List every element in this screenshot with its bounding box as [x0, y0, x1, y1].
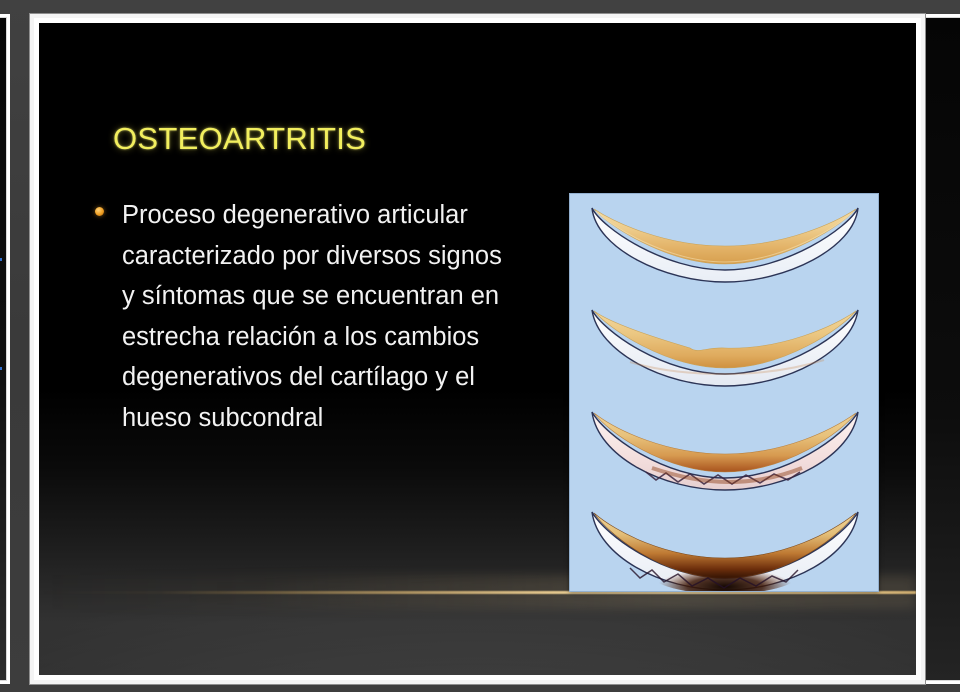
current-slide-frame[interactable]: OSTEOARTRITIS Proceso degenerativo artic… — [30, 14, 925, 684]
cartilage-stage-1-normal — [586, 202, 864, 294]
cartilage-degeneration-diagram — [569, 193, 879, 592]
previous-slide-thumbnail[interactable] — [0, 14, 10, 684]
cartilage-stage-3-fibrillation — [586, 406, 864, 498]
cartilage-stage-4-severe-loss — [586, 508, 864, 592]
bullet-list: Proceso degenerativo articular caracteri… — [95, 195, 515, 438]
previous-slide-content — [0, 17, 7, 681]
slide-frame-border: OSTEOARTRITIS Proceso degenerativo artic… — [34, 18, 921, 680]
bullet-item-text: Proceso degenerativo articular caracteri… — [122, 195, 515, 438]
cartilage-stage-2-early-thinning — [586, 304, 864, 396]
bullet-marker-icon — [95, 207, 104, 216]
slide-viewer: OSTEOARTRITIS Proceso degenerativo artic… — [0, 0, 960, 692]
slide-canvas[interactable]: OSTEOARTRITIS Proceso degenerativo artic… — [39, 23, 916, 675]
page-title: OSTEOARTRITIS — [113, 121, 366, 157]
